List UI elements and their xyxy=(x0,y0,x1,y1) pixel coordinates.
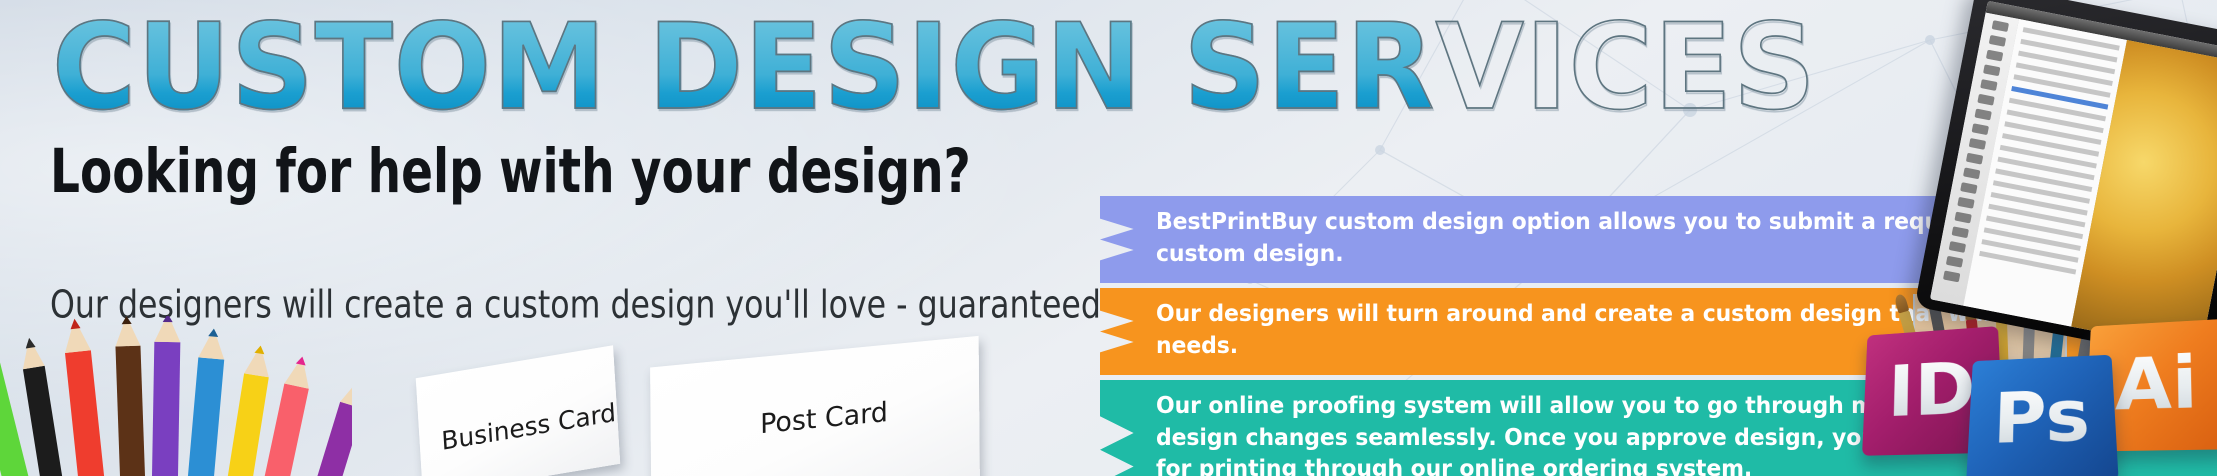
business-card-mockup: Business Card xyxy=(416,345,621,476)
page-title: CUSTOM DESIGN SERVICES xyxy=(52,8,1430,129)
adobe-indesign-glyph: ID xyxy=(1887,347,1977,434)
adobe-illustrator-glyph: Ai xyxy=(2115,342,2199,428)
adobe-photoshop-glyph: Ps xyxy=(1992,375,2092,460)
colored-pencils-illustration xyxy=(0,316,352,476)
post-card-label: Post Card xyxy=(760,397,888,440)
business-card-label: Business Card xyxy=(441,398,617,456)
tablet-device-illustration xyxy=(1914,0,2217,364)
banner-title-container: CUSTOM DESIGN SERVICES xyxy=(52,8,1352,120)
headline-question: Looking for help with your design? xyxy=(50,136,971,207)
tablet-screen xyxy=(1930,1,2217,352)
post-card-mockup: Post Card xyxy=(650,336,980,476)
custom-design-services-banner: CUSTOM DESIGN SERVICES Looking for help … xyxy=(0,0,2217,476)
adobe-photoshop-icon: Ps xyxy=(1966,355,2119,476)
